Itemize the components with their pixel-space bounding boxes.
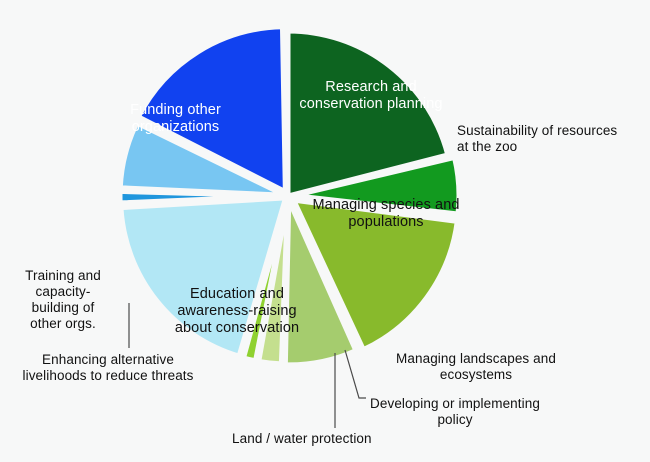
slice-label-education-and-awareness-raising: Education and awareness-raising about co… [163,286,311,337]
slice-label-enhancing-alternative-livelihoods: Enhancing alternative livelihoods to red… [4,352,212,384]
callout-developing-policy [345,350,366,398]
slice-label-training-and-capacity-building: Training and capacity- building of other… [7,268,119,332]
slice-label-sustainability-of-resources-at-the-zoo: Sustainability of resources at the zoo [457,123,647,155]
pie-chart-figure: Research and conservation planning Fundi… [0,0,650,462]
slice-label-managing-landscapes-and-ecosystems: Managing landscapes and ecosystems [381,351,571,383]
slice-label-research-and-conservation-planning: Research and conservation planning [296,79,446,113]
slice-label-land-water-protection: Land / water protection [232,431,407,447]
slice-label-funding-other-organizations: Funding other organizations [103,102,248,136]
slice-label-developing-or-implementing-policy: Developing or implementing policy [355,396,555,428]
slice-label-managing-species-and-populations: Managing species and populations [306,197,466,231]
